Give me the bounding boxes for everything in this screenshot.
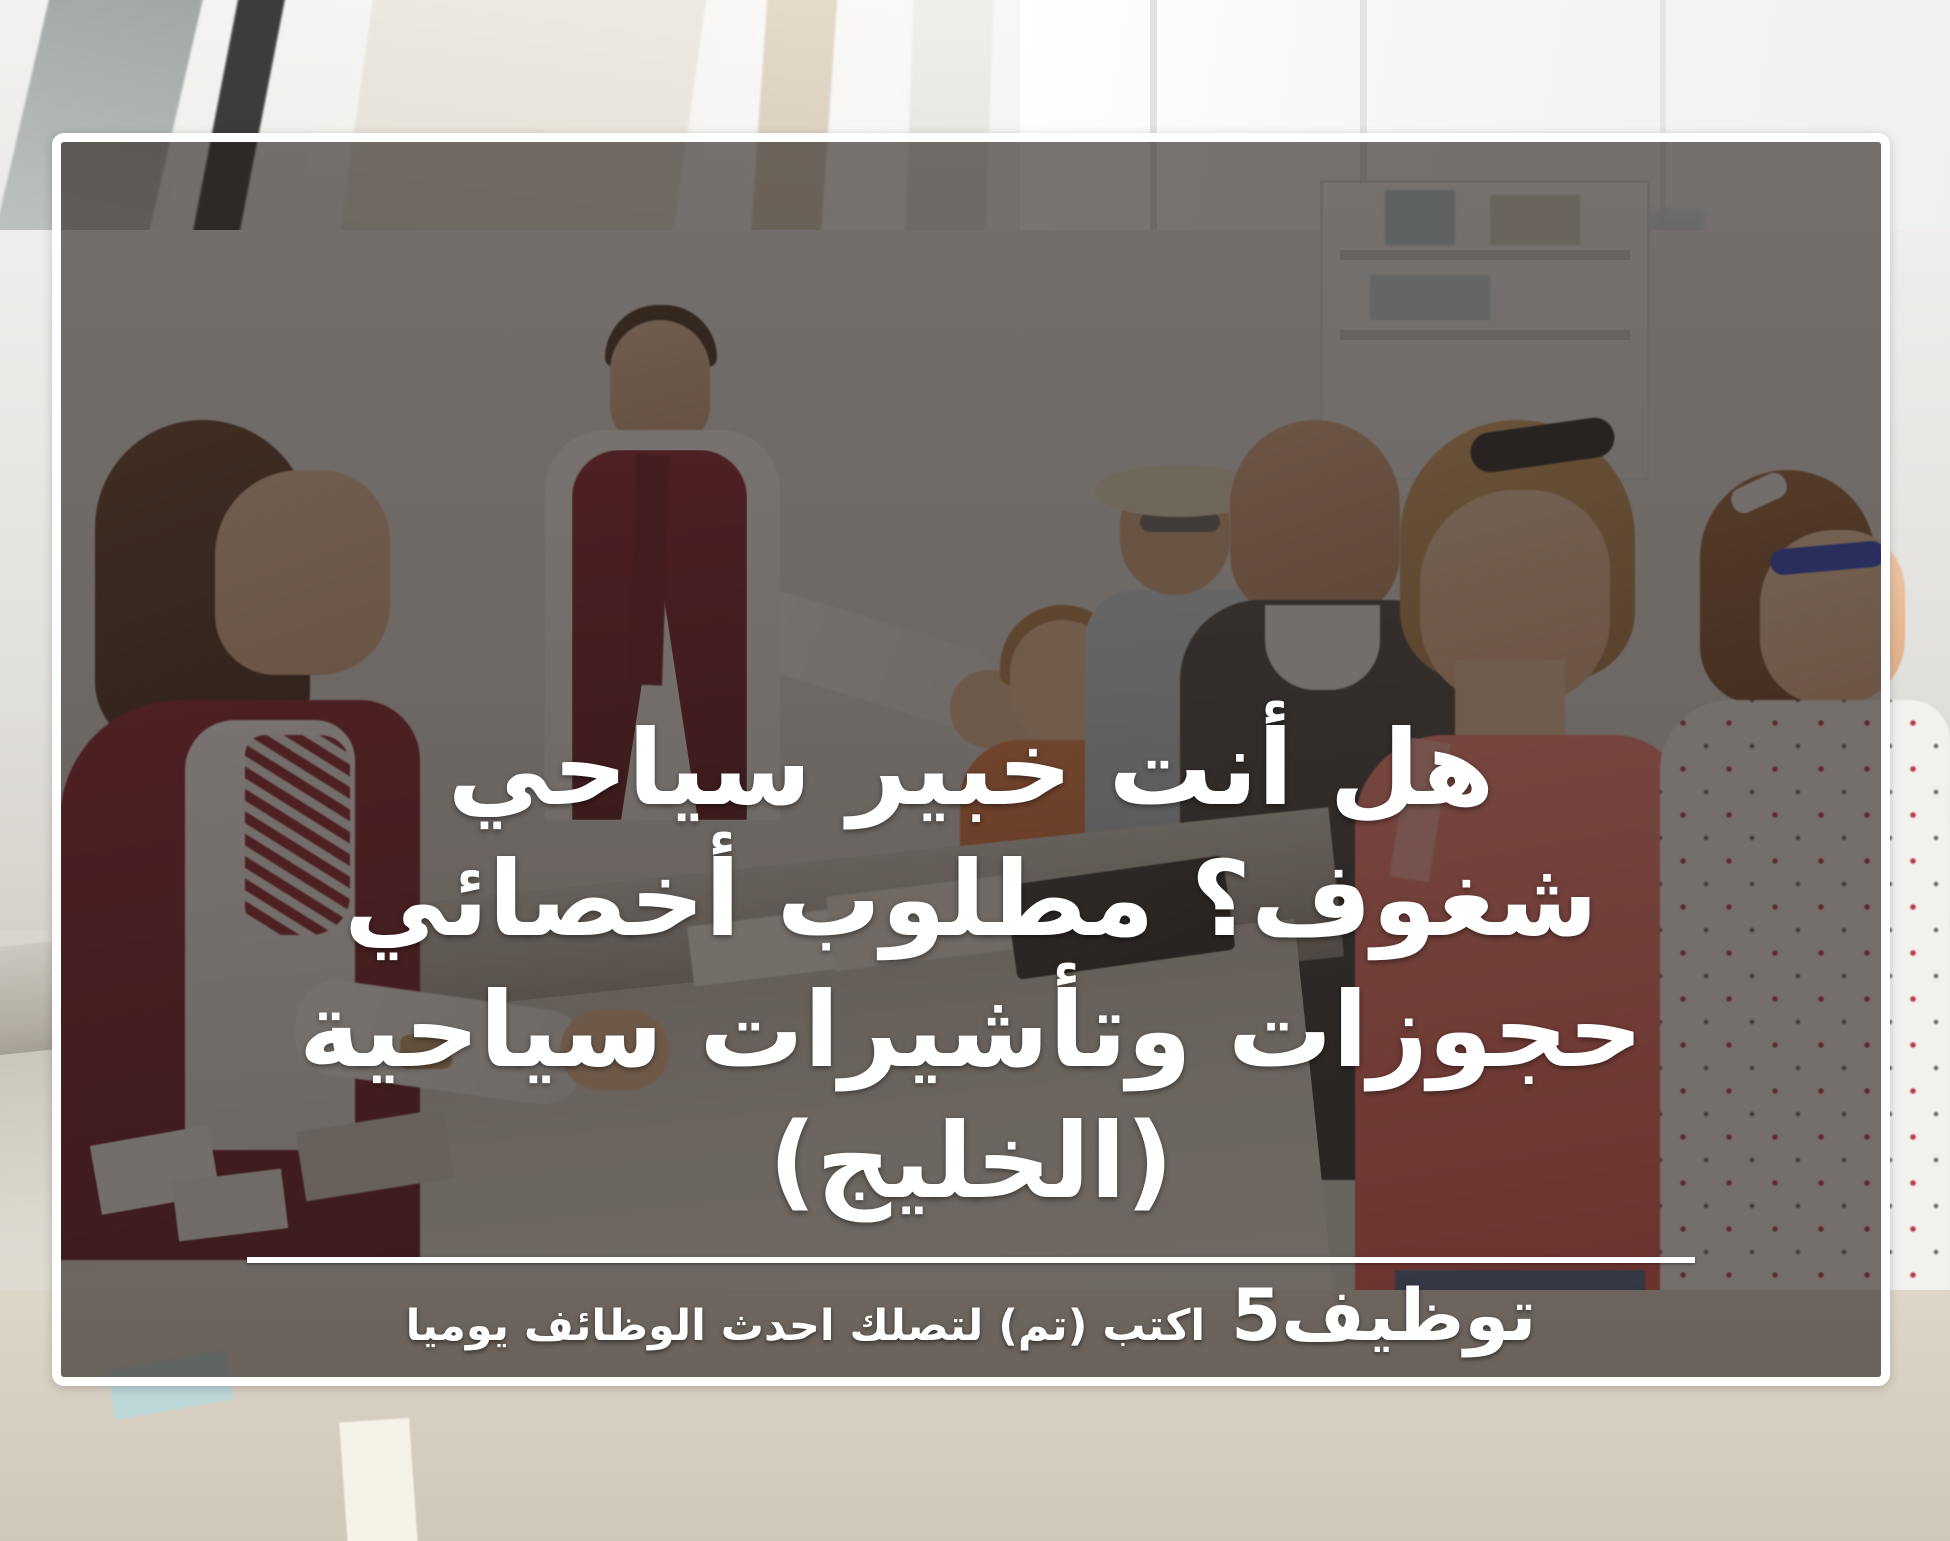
card-content: هل أنت خبير سياحي شغوف؟ مطلوب أخصائي حجو…: [61, 142, 1881, 1377]
floor-paper-slip: [339, 1418, 421, 1541]
job-post-card: هل أنت خبير سياحي شغوف؟ مطلوب أخصائي حجو…: [52, 133, 1890, 1386]
screenshot-root: هل أنت خبير سياحي شغوف؟ مطلوب أخصائي حجو…: [0, 0, 1950, 1541]
card-footer: توظيف5 اكتب (تم) لتصلك احدث الوظائف يومي…: [89, 1279, 1853, 1351]
brand-name: توظيف5: [1231, 1279, 1536, 1351]
divider: [247, 1257, 1695, 1263]
subscribe-tagline: اكتب (تم) لتصلك احدث الوظائف يوميا: [406, 1305, 1206, 1348]
page-title: هل أنت خبير سياحي شغوف؟ مطلوب أخصائي حجو…: [89, 703, 1853, 1227]
